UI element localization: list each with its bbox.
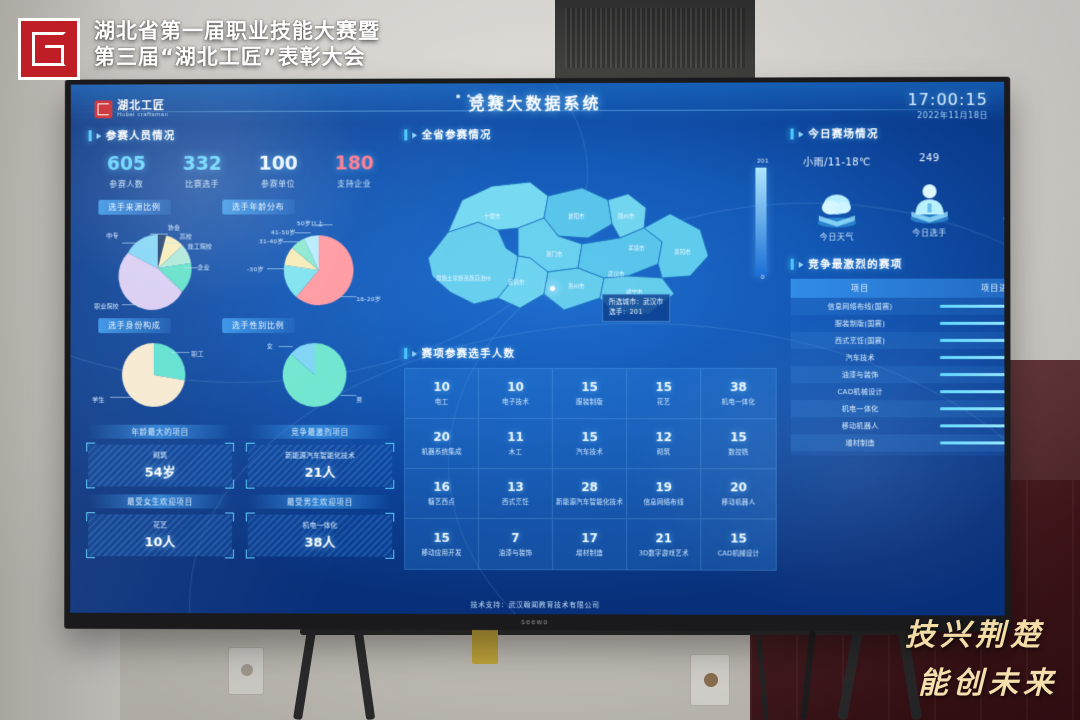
card-value: 38人 <box>252 532 388 551</box>
kpi-sponsors: 180 支持企业 <box>316 154 392 189</box>
section-title: 全省参赛情况 <box>422 127 492 142</box>
tv-brand-logo: seewo <box>521 618 548 626</box>
card-subtitle: 花艺 <box>92 520 228 530</box>
progress-fill <box>939 373 1004 376</box>
calligraphy-watermark: 技兴荆楚 能创未来 <box>892 610 1058 702</box>
pie-titles-row-1: 选手来源比例 选手年龄分布 <box>89 199 393 214</box>
progress-track <box>939 407 1004 410</box>
corner-bracket-icon <box>86 479 95 488</box>
corner-bracket-icon <box>225 480 234 489</box>
map-city-label: 黄冈市 <box>674 248 691 256</box>
event-name: 西式烹饪 <box>500 498 531 506</box>
event-count-value: 15 <box>730 531 747 545</box>
pie-label-vocational: 职业院校 <box>94 301 119 310</box>
card-most-competitive[interactable]: 新能源汽车智能化技术 21人 <box>248 445 392 487</box>
brand-logo: 湖北工匠 Hubei craftsman <box>95 100 169 118</box>
person-icon <box>883 172 976 224</box>
chevron-right-icon <box>798 261 803 267</box>
map-city-label: 孝感市 <box>628 244 645 252</box>
column-header-project: 项目 <box>791 283 930 294</box>
rank-progress-cell <box>930 305 1005 308</box>
thermometer-gun-icon <box>976 172 1005 224</box>
kpi-label: 支持企业 <box>316 178 392 189</box>
chevron-right-icon <box>798 131 803 137</box>
section-header-grid: 赛项参赛选手人数 <box>404 346 776 361</box>
event-name: 机器系统集成 <box>420 448 464 456</box>
event-count-value: 38 <box>730 380 747 394</box>
event-count-value: 10 <box>433 380 450 394</box>
section-header-rank: 竞争最激烈的赛项 <box>791 256 1005 271</box>
card-title: 竞争最激烈项目 <box>248 425 392 439</box>
map-city-label: 宜昌市 <box>508 278 525 286</box>
section-title: 今日赛场情况 <box>808 126 879 141</box>
brand-name-en: Hubei craftsman <box>117 112 168 118</box>
event-name: 电工 <box>433 398 450 406</box>
event-count-cell[interactable]: 10电工 <box>405 369 479 419</box>
section-accent-bar <box>89 130 91 141</box>
progress-fill <box>939 390 1004 393</box>
pie-label-college: 高校 <box>180 232 192 241</box>
progress-track <box>939 305 1004 308</box>
pie-leader-line <box>166 242 180 243</box>
pie-leader-line <box>184 267 198 268</box>
event-count-cell[interactable]: 28新能源汽车智能化技术 <box>553 469 627 519</box>
event-name: 汽车技术 <box>574 449 605 457</box>
event-name: CAD机械设计 <box>716 549 762 557</box>
rank-project-name: 增材制造 <box>791 438 930 448</box>
event-count-cell[interactable]: 15汽车技术 <box>553 419 627 469</box>
map-selected-marker <box>550 286 555 291</box>
rank-project-name: CAD机械设计 <box>791 387 930 397</box>
venue-abnormal-temperature: 0 体温异常 <box>976 153 1005 243</box>
pie-title-age: 选手年龄分布 <box>222 199 294 214</box>
calligraphy-line-1: 技兴荆楚 <box>892 610 1058 654</box>
pie-chart-identity: 职工 学生 <box>88 333 237 419</box>
panel-venue: 今日赛场情况 小雨/11-18℃ <box>791 126 1005 456</box>
event-count-cell[interactable]: 10电子技术 <box>479 369 553 419</box>
corner-bracket-icon <box>246 549 255 558</box>
screen: 竞赛大数据系统 17:00:15 2022年11月18日 湖北工匠 Hubei … <box>70 82 1004 616</box>
corner-bracket-icon <box>385 550 394 559</box>
map-tooltip: 所选城市：武汉市 选手：201 <box>602 294 671 322</box>
event-name: 3D数字游戏艺术 <box>637 549 691 557</box>
event-count-value: 12 <box>655 431 672 445</box>
event-count-grid: 10电工10电子技术15服装制版15花艺38机电一体化20机器系统集成11木工1… <box>404 368 777 571</box>
section-title: 赛项参赛选手人数 <box>422 346 515 361</box>
corner-bracket-icon <box>86 549 95 558</box>
corner-bracket-icon <box>246 513 255 522</box>
progress-fill <box>939 424 1004 427</box>
progress-track <box>939 390 1004 393</box>
brand-seal-icon <box>95 100 113 118</box>
display-monitor: 竞赛大数据系统 17:00:15 2022年11月18日 湖北工匠 Hubei … <box>64 77 1011 632</box>
table-row[interactable]: 移动机器人 <box>791 417 1005 434</box>
progress-track <box>939 373 1004 376</box>
poster-title-overlay: 湖北省第一届职业技能大赛暨 第三届“湖北工匠”表彰大会 <box>18 18 380 80</box>
card-value: 54岁 <box>92 461 228 480</box>
pie-chart-source: 协会 高校 技工院校 企业 职业院校 中专 <box>88 217 237 317</box>
pie-label-male: 男 <box>356 395 362 404</box>
panel-province-map: 全省参赛情况 <box>404 127 777 571</box>
venue-value: 0 <box>976 153 1005 164</box>
section-rank: 竞争最激烈的赛项 项目 项目进度 信息网络布线(国赛)服装制版(国赛)西式烹饪(… <box>791 256 1005 455</box>
progress-track <box>939 424 1004 427</box>
map-legend-max: 201 <box>757 158 769 165</box>
brand-name-cn: 湖北工匠 <box>117 100 168 112</box>
event-count-cell[interactable]: 15移动应用开发 <box>405 519 479 569</box>
venue-competitors: 249 今日选手 <box>883 153 976 242</box>
table-row[interactable]: 油漆与装饰 <box>791 366 1005 383</box>
rank-progress-cell <box>930 356 1005 359</box>
pie-leader-line <box>295 232 311 233</box>
event-count-value: 28 <box>581 481 598 495</box>
corner-bracket-icon <box>246 443 255 452</box>
table-row[interactable]: 西式烹饪(国赛) <box>791 332 1005 349</box>
progress-fill <box>939 339 1004 342</box>
kpi-total-participants: 605 参赛人数 <box>89 155 165 190</box>
calligraphy-line-2: 能创未来 <box>918 658 1058 702</box>
event-name: 数控铣 <box>726 449 750 457</box>
corner-bracket-icon <box>385 513 394 522</box>
highlight-card-column-right: 竞争最激烈项目 新能源汽车智能化技术 21人 最受男生欢迎项目 <box>248 425 392 557</box>
progress-track <box>940 441 1005 444</box>
venue-value: 249 <box>883 153 976 164</box>
kpi-label: 参赛单位 <box>240 179 316 190</box>
event-count-value: 17 <box>581 531 598 545</box>
progress-fill <box>939 407 1004 410</box>
pie-chart-age: 50岁以上 41-50岁 31-40岁 -30岁 16-20岁 <box>245 216 394 316</box>
venue-stats-row: 小雨/11-18℃ 今日天气 <box>791 153 1005 243</box>
rank-project-name: 西式烹饪(国赛) <box>791 335 930 345</box>
poster-line-2: 第三届“湖北工匠”表彰大会 <box>94 44 380 70</box>
venue-label: 体温异常 <box>976 227 1005 238</box>
section-accent-bar <box>791 128 794 139</box>
section-header-participants: 参赛人员情况 <box>89 127 393 143</box>
pie-leader-line <box>172 352 190 353</box>
pie-leader-line <box>317 224 333 225</box>
event-name: 木工 <box>507 448 524 456</box>
pie-leader-line <box>110 397 132 398</box>
table-row[interactable]: 汽车技术 <box>791 349 1005 366</box>
card-oldest-project[interactable]: 砌筑 54岁 <box>88 445 232 487</box>
table-row[interactable]: 服装制版(国赛) <box>791 315 1005 332</box>
rank-progress-cell <box>930 424 1005 427</box>
pie-label-tech-school: 技工院校 <box>188 241 213 250</box>
map-area[interactable]: 十堰市 襄阳市 随州市 荆门市 孝感市 黄冈市 宜昌市 荆州市 武汉市 咸宁市 … <box>404 146 776 342</box>
chevron-right-icon <box>96 133 101 139</box>
pie-leader-line <box>176 252 188 253</box>
event-count-cell[interactable]: 38机电一体化 <box>701 369 775 419</box>
kpi-value: 180 <box>316 154 392 173</box>
map-legend-min: 0 <box>761 274 765 281</box>
progress-fill <box>940 441 1005 444</box>
pie-label-student: 学生 <box>92 395 104 404</box>
pie-label-31-40: 31-40岁 <box>259 236 283 245</box>
event-count-cell[interactable]: 11木工 <box>479 419 553 469</box>
event-name: 新能源汽车智能化技术 <box>554 499 625 507</box>
kpi-competitors: 332 比赛选手 <box>164 155 240 190</box>
corner-bracket-icon <box>385 480 394 489</box>
rank-progress-cell <box>930 441 1005 444</box>
column-header-progress: 项目进度 <box>930 283 1005 294</box>
event-count-value: 15 <box>581 380 598 394</box>
rank-project-name: 信息网络布线(国赛) <box>791 301 930 311</box>
corner-bracket-icon <box>225 443 234 452</box>
event-count-cell[interactable]: 213D数字游戏艺术 <box>627 519 701 569</box>
event-count-cell[interactable]: 12砌筑 <box>627 419 701 469</box>
pie-label-female: 女 <box>267 341 273 350</box>
event-count-cell[interactable]: 16糖艺西点 <box>405 469 479 519</box>
progress-fill <box>939 356 1004 359</box>
event-count-value: 10 <box>507 380 524 394</box>
section-title: 参赛人员情况 <box>106 128 176 143</box>
event-count-value: 20 <box>730 481 747 495</box>
corner-bracket-icon <box>86 443 95 452</box>
event-count-value: 20 <box>433 430 450 444</box>
pie-chart-gender: 女 男 <box>245 333 394 419</box>
card-subtitle: 新能源汽车智能化技术 <box>252 451 388 461</box>
pie-row-2: 职工 学生 女 男 <box>88 333 392 419</box>
poster-title-text: 湖北省第一届职业技能大赛暨 第三届“湖北工匠”表彰大会 <box>94 18 380 71</box>
page-title: 竞赛大数据系统 <box>469 90 602 114</box>
event-name: 砌筑 <box>655 449 672 457</box>
highlight-cards: 年龄最大的项目 砌筑 54岁 最受女生欢迎项目 <box>88 425 392 557</box>
kpi-units: 100 参赛单位 <box>240 155 316 190</box>
card-most-popular-female[interactable]: 花艺 10人 <box>88 514 232 556</box>
pie-leader-line <box>267 268 285 269</box>
event-count-cell[interactable]: 17增材制造 <box>553 519 627 569</box>
pie-label-41-50: 41-50岁 <box>271 227 295 236</box>
corner-bracket-icon <box>246 480 255 489</box>
event-name: 移动机器人 <box>720 499 758 507</box>
pie-identity-svg <box>88 333 237 419</box>
venue-value: 小雨/11-18℃ <box>791 153 884 168</box>
kpi-value: 332 <box>164 155 240 174</box>
pie-titles-row-2: 选手身份构成 选手性别比例 <box>88 318 392 333</box>
venue-label: 今日天气 <box>791 232 884 243</box>
card-subtitle: 砌筑 <box>92 451 228 461</box>
rank-progress-cell <box>930 407 1005 410</box>
event-count-value: 15 <box>730 431 747 445</box>
panel-participants: 参赛人员情况 605 参赛人数 332 比赛选手 100 参赛单位 <box>88 127 392 556</box>
map-city-label: 十堰市 <box>484 212 501 220</box>
map-city-label: 荆门市 <box>546 250 563 258</box>
map-city-label: 武汉市 <box>608 270 625 278</box>
kpi-value: 605 <box>89 155 165 174</box>
rank-table: 项目 项目进度 信息网络布线(国赛)服装制版(国赛)西式烹饪(国赛)汽车技术油漆… <box>791 279 1005 456</box>
progress-fill <box>939 305 1004 308</box>
chevron-right-icon <box>412 351 417 357</box>
card-most-popular-male[interactable]: 机电一体化 38人 <box>248 515 392 557</box>
cloud-rain-icon <box>791 176 884 228</box>
rank-project-name: 油漆与装饰 <box>791 370 930 380</box>
event-count-cell[interactable]: 15CAD机械设计 <box>701 519 775 569</box>
highlight-card-column-left: 年龄最大的项目 砌筑 54岁 最受女生欢迎项目 <box>88 425 232 557</box>
event-count-cell[interactable]: 7油漆与装饰 <box>479 519 553 569</box>
hubei-province-map-icon[interactable]: 十堰市 襄阳市 随州市 荆门市 孝感市 黄冈市 宜昌市 荆州市 武汉市 咸宁市 … <box>422 152 722 338</box>
event-count-cell[interactable]: 15服装制版 <box>553 369 627 419</box>
kpi-row: 605 参赛人数 332 比赛选手 100 参赛单位 180 支持企业 <box>89 154 393 189</box>
event-count-cell[interactable]: 15数控铣 <box>701 419 775 469</box>
section-header-venue: 今日赛场情况 <box>791 126 1005 142</box>
card-value: 21人 <box>252 462 388 481</box>
pie-leader-line <box>150 234 168 235</box>
event-name: 电子技术 <box>500 398 531 406</box>
pie-leader-line <box>122 304 140 305</box>
table-row[interactable]: 信息网络布线(国赛) <box>791 298 1005 315</box>
pie-leader-line <box>340 395 356 396</box>
event-count-cell[interactable]: 13西式烹饪 <box>479 469 553 519</box>
event-count-value: 7 <box>511 531 519 545</box>
pie-leader-line <box>122 243 136 244</box>
event-count-value: 15 <box>433 531 450 545</box>
event-name: 花艺 <box>655 399 672 407</box>
event-count-cell[interactable]: 20机器系统集成 <box>405 419 479 469</box>
footer-credit: 技术支持：武汉翰闻教育技术有限公司 <box>70 599 1004 612</box>
corner-bracket-icon <box>86 512 95 521</box>
event-count-value: 15 <box>581 430 598 444</box>
card-title: 最受男生欢迎项目 <box>248 495 392 509</box>
tooltip-city: 所选城市：武汉市 <box>609 298 664 308</box>
pie-leader-line <box>279 346 293 347</box>
rank-progress-cell <box>930 322 1005 325</box>
progress-track <box>939 356 1004 359</box>
corner-bracket-icon <box>225 549 234 558</box>
map-city-label: 荆州市 <box>568 282 585 290</box>
map-city-label: 恩施土家族苗族自治州 <box>436 274 491 282</box>
progress-fill <box>939 322 1004 325</box>
event-count-cell[interactable]: 20移动机器人 <box>701 469 775 519</box>
hubei-craftsman-seal-icon <box>18 18 80 80</box>
map-city-label: 襄阳市 <box>568 212 585 220</box>
event-count-value: 11 <box>507 430 524 444</box>
event-count-cell[interactable]: 15花艺 <box>627 369 701 419</box>
pie-label-enterprise: 企业 <box>197 262 209 271</box>
clock-date: 2022年11月18日 <box>907 110 988 121</box>
pie-label-50-plus: 50岁以上 <box>297 218 323 227</box>
section-accent-bar <box>404 348 406 359</box>
pie-leader-line <box>340 296 356 297</box>
pie-label-association: 协会 <box>168 223 180 232</box>
pie-label-16-20: 16-20岁 <box>356 294 381 303</box>
event-name: 信息网络布线 <box>642 499 686 507</box>
pie-leader-line <box>283 241 299 242</box>
event-name: 油漆与装饰 <box>497 549 534 557</box>
event-name: 服装制版 <box>574 398 605 406</box>
section-title: 竞争最激烈的赛项 <box>808 257 902 272</box>
rank-progress-cell <box>930 390 1005 393</box>
venue-weather: 小雨/11-18℃ 今日天气 <box>791 153 884 242</box>
kpi-value: 100 <box>240 155 316 174</box>
event-name: 增材制造 <box>574 549 605 557</box>
event-count-value: 13 <box>507 480 524 494</box>
dashboard: 竞赛大数据系统 17:00:15 2022年11月18日 湖北工匠 Hubei … <box>70 82 1004 616</box>
pie-title-source: 选手来源比例 <box>98 200 170 215</box>
rank-project-name: 移动机器人 <box>791 421 930 431</box>
section-accent-bar <box>404 129 406 140</box>
rank-progress-cell <box>930 373 1005 376</box>
rank-table-header: 项目 项目进度 <box>791 279 1005 298</box>
pie-label-under-30: -30岁 <box>247 264 264 273</box>
map-city-label: 随州市 <box>618 212 635 220</box>
progress-track <box>939 322 1004 325</box>
pie-label-worker: 职工 <box>191 349 203 358</box>
rank-project-name: 机电一体化 <box>791 404 930 414</box>
pie-label-secondary: 中专 <box>106 231 118 240</box>
rank-progress-cell <box>930 339 1005 342</box>
kpi-label: 比赛选手 <box>164 179 240 190</box>
clock-time: 17:00:15 <box>907 90 988 109</box>
event-count-value: 19 <box>655 481 672 495</box>
pie-title-identity: 选手身份构成 <box>98 318 170 333</box>
venue-label: 今日选手 <box>883 227 976 238</box>
card-title: 最受女生欢迎项目 <box>88 494 232 508</box>
section-grid: 赛项参赛选手人数 10电工10电子技术15服装制版15花艺38机电一体化20机器… <box>404 346 777 571</box>
pie-title-gender: 选手性别比例 <box>222 318 294 333</box>
map-legend-gradient <box>755 168 766 276</box>
chevron-right-icon <box>412 132 417 138</box>
table-row[interactable]: 机电一体化 <box>791 400 1005 417</box>
section-header-map: 全省参赛情况 <box>404 127 776 143</box>
kpi-label: 参赛人数 <box>89 179 165 190</box>
table-row[interactable]: CAD机械设计 <box>791 383 1005 400</box>
pie-row-1: 协会 高校 技工院校 企业 职业院校 中专 <box>88 216 392 316</box>
event-count-value: 21 <box>655 531 672 545</box>
poster-line-1: 湖北省第一届职业技能大赛暨 <box>94 18 380 44</box>
event-name: 机电一体化 <box>720 399 758 407</box>
event-count-value: 16 <box>433 480 450 494</box>
corner-bracket-icon <box>225 513 234 522</box>
progress-track <box>939 339 1004 342</box>
rank-project-name: 汽车技术 <box>791 352 930 362</box>
dashboard-header: 竞赛大数据系统 17:00:15 2022年11月18日 <box>71 82 1004 125</box>
clock: 17:00:15 2022年11月18日 <box>907 90 988 121</box>
table-row[interactable]: 增材制造 <box>791 434 1005 451</box>
event-name: 糖艺西点 <box>426 498 457 506</box>
event-count-cell[interactable]: 19信息网络布线 <box>627 469 701 519</box>
card-value: 10人 <box>92 531 228 550</box>
rank-table-body: 信息网络布线(国赛)服装制版(国赛)西式烹饪(国赛)汽车技术油漆与装饰CAD机械… <box>791 298 1005 452</box>
event-name: 移动应用开发 <box>419 549 463 557</box>
tooltip-count: 选手：201 <box>609 308 664 318</box>
section-accent-bar <box>791 259 794 270</box>
event-count-value: 15 <box>655 380 672 394</box>
corner-bracket-icon <box>385 443 394 452</box>
rank-project-name: 服装制版(国赛) <box>791 318 930 328</box>
card-title: 年龄最大的项目 <box>88 425 232 439</box>
card-subtitle: 机电一体化 <box>252 521 388 531</box>
